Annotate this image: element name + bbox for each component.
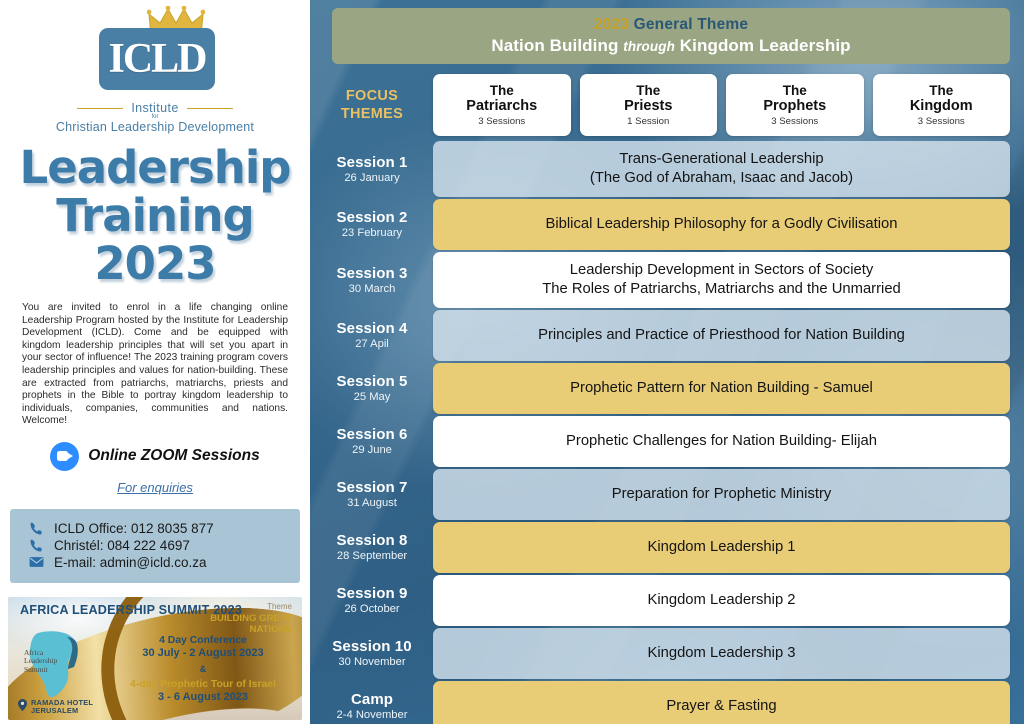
session-row: Session 1030 NovemberKingdom Leadership … <box>320 628 1010 679</box>
focus-card-name: Priests <box>624 98 672 114</box>
theme-line1: 2023 General Theme <box>594 16 748 34</box>
focus-label-line2: THEMES <box>320 105 424 123</box>
session-date: 2-4 November <box>337 708 408 722</box>
session-name: Session 6 <box>337 426 408 443</box>
session-row: Session 223 FebruaryBiblical Leadership … <box>320 199 1010 250</box>
location-pin-icon <box>18 699 27 711</box>
online-zoom-label: Online ZOOM Sessions <box>88 447 259 465</box>
logo-subtitle-institute: Institute <box>0 101 310 115</box>
summit-conference-dates: 30 July - 2 August 2023 <box>112 647 294 659</box>
session-topic-line2: (The God of Abraham, Isaac and Jacob) <box>590 169 853 188</box>
focus-label-line1: FOCUS <box>320 87 424 105</box>
contact-block: ICLD Office: 012 8035 877 Christél: 084 … <box>10 509 300 583</box>
session-date: 29 June <box>352 443 392 457</box>
session-date: 26 October <box>344 602 399 616</box>
logo-institute-text: Institute <box>131 101 178 115</box>
theme-line1-rest: General Theme <box>629 16 748 33</box>
logo-cld-text: Christian Leadership Development <box>0 120 310 134</box>
session-label: Session 223 February <box>320 199 424 250</box>
focus-theme-card-priests[interactable]: The Priests 1 Session <box>580 74 718 136</box>
theme-year: 2023 <box>594 16 629 33</box>
session-row: Session 525 MayProphetic Pattern for Nat… <box>320 363 1010 414</box>
session-row: Session 926 OctoberKingdom Leadership 2 <box>320 575 1010 626</box>
focus-card-the: The <box>929 83 953 98</box>
left-info-column: ICLD Institute for Christian Leadership … <box>0 0 310 724</box>
session-row: Session 427 ApilPrinciples and Practice … <box>320 310 1010 361</box>
session-topic-pill[interactable]: Prophetic Pattern for Nation Building - … <box>433 363 1010 414</box>
session-topic-pill[interactable]: Principles and Practice of Priesthood fo… <box>433 310 1010 361</box>
session-label: Session 525 May <box>320 363 424 414</box>
summit-theme-value: BUILDING GREAT NATIONS <box>182 613 292 636</box>
session-topic-line2: The Roles of Patriarchs, Matriarchs and … <box>542 280 901 299</box>
session-topic-line1: Prophetic Pattern for Nation Building - … <box>570 379 873 398</box>
focus-card-the: The <box>783 83 807 98</box>
session-name: Session 9 <box>337 585 408 602</box>
session-topic-line1: Kingdom Leadership 3 <box>647 644 795 663</box>
session-date: 28 September <box>337 549 407 563</box>
session-topic-pill[interactable]: Prophetic Challenges for Nation Building… <box>433 416 1010 467</box>
contact-row-christel[interactable]: Christél: 084 222 4697 <box>28 538 300 553</box>
session-name: Session 5 <box>337 373 408 390</box>
contact-row-office[interactable]: ICLD Office: 012 8035 877 <box>28 521 300 536</box>
focus-theme-card-kingdom[interactable]: The Kingdom 3 Sessions <box>873 74 1011 136</box>
session-row: Session 629 JuneProphetic Challenges for… <box>320 416 1010 467</box>
focus-card-the: The <box>490 83 514 98</box>
session-topic-line1: Kingdom Leadership 2 <box>647 591 795 610</box>
focus-card-sessions: 3 Sessions <box>478 116 525 127</box>
session-date: 27 Apil <box>355 337 389 351</box>
session-topic-line1: Preparation for Prophetic Ministry <box>612 485 832 504</box>
session-label: Session 731 August <box>320 469 424 520</box>
session-label: Camp2-4 November <box>320 681 424 724</box>
zoom-video-icon <box>50 442 79 471</box>
poster-root: ICLD Institute for Christian Leadership … <box>0 0 1024 724</box>
summit-details: 4 Day Conference 30 July - 2 August 2023… <box>112 635 294 703</box>
session-date: 30 November <box>338 655 405 669</box>
africa-map-caption: AfricaLeadershipSummit <box>24 649 57 675</box>
session-row: Camp2-4 NovemberPrayer & Fasting <box>320 681 1010 724</box>
contact-christel-text: Christél: 084 222 4697 <box>54 538 190 553</box>
focus-card-sessions: 1 Session <box>627 116 669 127</box>
theme-line2: Nation Building through Kingdom Leadersh… <box>491 36 850 56</box>
session-topic-line1: Prayer & Fasting <box>666 697 776 716</box>
icld-logo: ICLD Institute for Christian Leadership … <box>0 0 310 134</box>
summit-theme-label: Theme <box>267 602 292 611</box>
summit-tour-line: 4-day Prophetic Tour of Israel <box>112 679 294 690</box>
session-topic-line1: Principles and Practice of Priesthood fo… <box>538 326 905 345</box>
session-date: 23 February <box>342 226 402 240</box>
session-row: Session 828 SeptemberKingdom Leadership … <box>320 522 1010 573</box>
session-date: 26 January <box>344 171 399 185</box>
session-name: Session 2 <box>337 209 408 226</box>
focus-card-the: The <box>636 83 660 98</box>
africa-leadership-summit-banner[interactable]: AFRICA LEADERSHIP SUMMIT 2023 Theme BUIL… <box>8 597 302 720</box>
session-topic-line1: Trans-Generational Leadership <box>619 150 823 169</box>
focus-card-name: Kingdom <box>910 98 973 114</box>
focus-themes-label: FOCUS THEMES <box>320 87 424 123</box>
session-topic-pill[interactable]: Trans-Generational Leadership(The God of… <box>433 141 1010 197</box>
session-topic-pill[interactable]: Leadership Development in Sectors of Soc… <box>433 252 1010 308</box>
session-date: 31 August <box>347 496 397 510</box>
contact-row-email[interactable]: E-mail: admin@icld.co.za <box>28 555 300 570</box>
focus-card-sessions: 3 Sessions <box>918 116 965 127</box>
session-topic-pill[interactable]: Kingdom Leadership 1 <box>433 522 1010 573</box>
session-topic-pill[interactable]: Preparation for Prophetic Ministry <box>433 469 1010 520</box>
focus-theme-card-patriarchs[interactable]: The Patriarchs 3 Sessions <box>433 74 571 136</box>
session-topic-line1: Prophetic Challenges for Nation Building… <box>566 432 877 451</box>
theme-line2-through: through <box>623 39 675 54</box>
contact-email-text: E-mail: admin@icld.co.za <box>54 555 207 570</box>
session-row: Session 731 AugustPreparation for Prophe… <box>320 469 1010 520</box>
session-topic-line1: Leadership Development in Sectors of Soc… <box>570 261 874 280</box>
session-name: Session 4 <box>337 320 408 337</box>
session-name: Session 3 <box>337 265 408 282</box>
session-topic-line1: Kingdom Leadership 1 <box>647 538 795 557</box>
page-title-line2: Training 2023 <box>0 192 310 288</box>
session-rows: Session 126 JanuaryTrans-Generational Le… <box>320 141 1010 724</box>
session-topic-pill[interactable]: Kingdom Leadership 3 <box>433 628 1010 679</box>
session-date: 25 May <box>354 390 391 404</box>
session-label: Session 1030 November <box>320 628 424 679</box>
session-name: Camp <box>351 691 393 708</box>
focus-card-name: Patriarchs <box>466 98 537 114</box>
envelope-icon <box>28 555 44 570</box>
summit-venue: RAMADA HOTELJERUSALEM <box>18 699 93 715</box>
session-topic-pill[interactable]: Prayer & Fasting <box>433 681 1010 724</box>
session-label: Session 126 January <box>320 141 424 197</box>
session-topic-line1: Biblical Leadership Philosophy for a God… <box>545 215 897 234</box>
session-label: Session 629 June <box>320 416 424 467</box>
session-topic-pill[interactable]: Kingdom Leadership 2 <box>433 575 1010 626</box>
session-label: Session 427 Apil <box>320 310 424 361</box>
focus-themes-row: FOCUS THEMES The Patriarchs 3 Sessions T… <box>320 72 1010 138</box>
page-title: Leadership Training 2023 <box>0 144 310 288</box>
session-label: Session 926 October <box>320 575 424 626</box>
online-zoom-row: Online ZOOM Sessions <box>0 442 310 471</box>
theme-line2-b: Kingdom Leadership <box>675 36 851 55</box>
session-topic-pill[interactable]: Biblical Leadership Philosophy for a God… <box>433 199 1010 250</box>
logo-mark: ICLD <box>85 8 225 94</box>
phone-icon <box>28 521 44 536</box>
summit-tour-dates: 3 - 6 August 2023 <box>112 691 294 703</box>
theme-line2-a: Nation Building <box>491 36 623 55</box>
session-name: Session 7 <box>337 479 408 496</box>
phone-icon <box>28 538 44 553</box>
session-date: 30 March <box>349 282 396 296</box>
for-enquiries-link[interactable]: For enquiries <box>0 480 310 495</box>
session-label: Session 828 September <box>320 522 424 573</box>
focus-card-name: Prophets <box>763 98 826 114</box>
session-row: Session 330 MarchLeadership Development … <box>320 252 1010 308</box>
intro-paragraph: You are invited to enrol in a life chang… <box>22 302 288 428</box>
session-name: Session 10 <box>332 638 411 655</box>
focus-theme-card-prophets[interactable]: The Prophets 3 Sessions <box>726 74 864 136</box>
contact-office-text: ICLD Office: 012 8035 877 <box>54 521 214 536</box>
session-name: Session 1 <box>337 154 408 171</box>
general-theme-banner: 2023 General Theme Nation Building throu… <box>332 8 1010 64</box>
session-row: Session 126 JanuaryTrans-Generational Le… <box>320 141 1010 197</box>
summit-ampersand: & <box>112 664 294 674</box>
focus-card-sessions: 3 Sessions <box>771 116 818 127</box>
summit-conference-line: 4 Day Conference <box>112 635 294 646</box>
session-name: Session 8 <box>337 532 408 549</box>
summit-venue-text: RAMADA HOTELJERUSALEM <box>31 699 93 715</box>
logo-letters: ICLD <box>99 28 215 90</box>
page-title-line1: Leadership <box>0 144 310 192</box>
schedule-panel: 2023 General Theme Nation Building throu… <box>310 0 1024 724</box>
session-label: Session 330 March <box>320 252 424 308</box>
